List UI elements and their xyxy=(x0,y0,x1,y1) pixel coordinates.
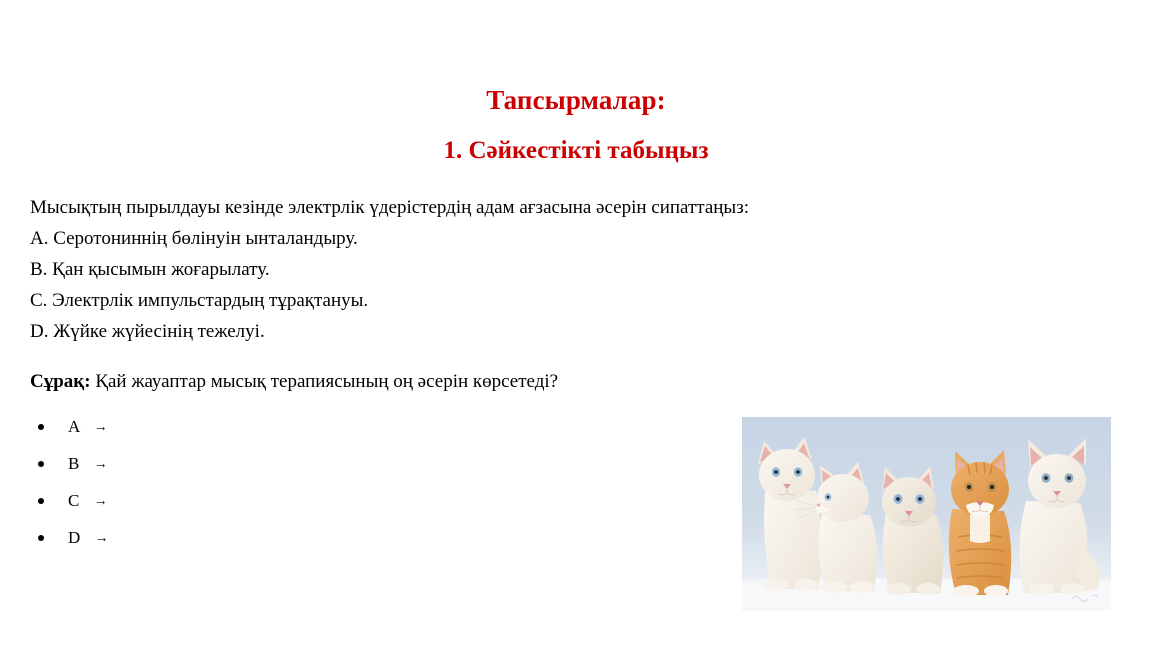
answer-choice-list: A → B → C → D → xyxy=(30,408,109,556)
answer-letter-d: D xyxy=(68,528,80,547)
prompt-option-d: D. Жүйке жүйесінің тежелуі. xyxy=(30,316,990,347)
bullet-icon xyxy=(38,461,44,467)
question-line: Сұрақ: Қай жауаптар мысық терапиясының о… xyxy=(30,368,558,396)
kittens-photo xyxy=(742,417,1111,611)
prompt-block: Мысықтың пырылдауы кезінде электрлік үде… xyxy=(30,192,990,347)
arrow-right-icon: → xyxy=(94,446,108,483)
question-text: Қай жауаптар мысық терапиясының оң әсері… xyxy=(95,371,558,392)
arrow-right-icon: → xyxy=(94,409,108,446)
answer-choice-c[interactable]: C → xyxy=(30,482,109,519)
task-subtitle: 1. Сәйкестікті табыңыз xyxy=(0,136,1152,166)
answer-letter-b: B xyxy=(68,454,79,473)
answer-choice-a[interactable]: A → xyxy=(30,408,109,445)
bullet-icon xyxy=(38,535,44,541)
prompt-option-a: A. Серотониннің бөлінуін ынталандыру. xyxy=(30,223,990,254)
arrow-right-icon: → xyxy=(95,520,109,557)
arrow-right-icon: → xyxy=(94,483,108,520)
prompt-intro: Мысықтың пырылдауы кезінде электрлік үде… xyxy=(30,192,990,223)
answer-letter-a: A xyxy=(68,417,79,436)
prompt-option-c: C. Электрлік импульстардың тұрақтануы. xyxy=(30,285,990,316)
slide-canvas: Тапсырмалар: 1. Сәйкестікті табыңыз Мысы… xyxy=(0,0,1152,648)
answer-letter-c: C xyxy=(68,491,79,510)
kitten-4-ginger-tabby xyxy=(949,450,1011,597)
answer-choice-d[interactable]: D → xyxy=(30,519,109,556)
question-label: Сұрақ: xyxy=(30,371,91,392)
bullet-icon xyxy=(38,424,44,430)
prompt-option-b: B. Қан қысымын жоғарылату. xyxy=(30,254,990,285)
answer-choice-b[interactable]: B → xyxy=(30,445,109,482)
kittens-illustration xyxy=(742,417,1111,611)
bullet-icon xyxy=(38,498,44,504)
page-title: Тапсырмалар: xyxy=(0,84,1152,116)
